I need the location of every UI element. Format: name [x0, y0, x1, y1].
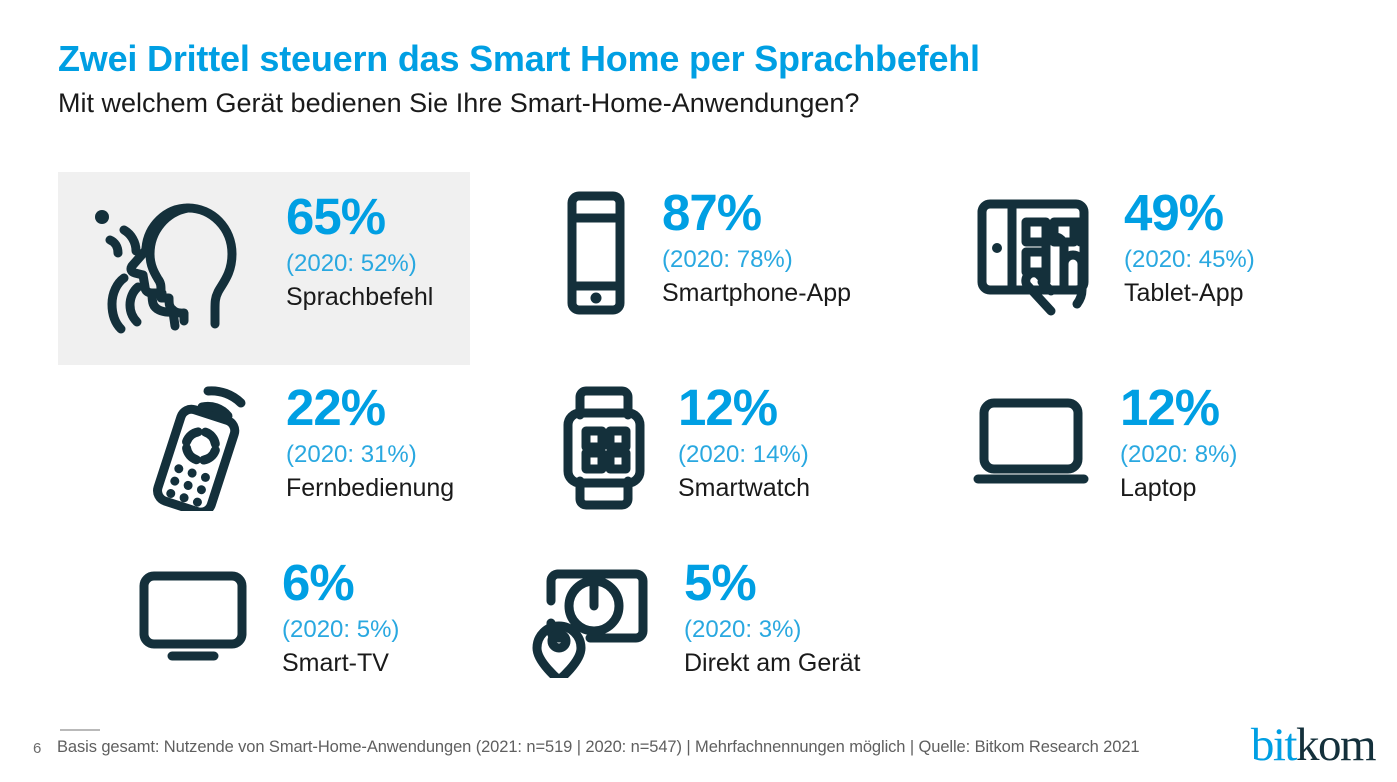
stat-cell-laptop: 12% (2020: 8%) Laptop — [968, 385, 1237, 505]
stat-text-laptop: 12% (2020: 8%) Laptop — [1120, 385, 1237, 505]
footer-source-note: Basis gesamt: Nutzende von Smart-Home-An… — [57, 738, 1140, 757]
stat-label: Tablet-App — [1124, 277, 1255, 310]
stat-text-direkt-am-geraet: 5% (2020: 3%) Direkt am Gerät — [684, 560, 860, 680]
stat-label: Smartphone-App — [662, 277, 851, 310]
logo-text-kom: kom — [1296, 719, 1375, 771]
stat-label: Laptop — [1120, 472, 1237, 505]
stat-text-smartphone-app: 87% (2020: 78%) Smartphone-App — [662, 190, 851, 310]
stat-cell-direkt-am-geraet: 5% (2020: 3%) Direkt am Gerät — [528, 560, 860, 680]
page-number: 6 — [33, 740, 41, 757]
tablet-touch-icon — [968, 190, 1098, 316]
remote-control-icon — [140, 385, 260, 511]
stat-text-tablet-app: 49% (2020: 45%) Tablet-App — [1124, 190, 1255, 310]
stat-percent: 49% — [1124, 190, 1255, 237]
stat-previous: (2020: 5%) — [282, 614, 399, 646]
power-device-icon — [528, 560, 658, 678]
stat-text-sprachbefehl: 65% (2020: 52%) Sprachbefehl — [286, 194, 433, 314]
page-title: Zwei Drittel steuern das Smart Home per … — [58, 38, 1348, 79]
stat-cell-tablet-app: 49% (2020: 45%) Tablet-App — [968, 190, 1255, 316]
stat-percent: 6% — [282, 560, 399, 607]
stat-label: Fernbedienung — [286, 472, 454, 505]
stat-label: Sprachbefehl — [286, 281, 433, 314]
stat-label: Smart-TV — [282, 647, 399, 680]
stat-percent: 87% — [662, 190, 851, 237]
laptop-icon — [968, 385, 1094, 495]
stat-percent: 12% — [678, 385, 810, 432]
stat-text-smartwatch: 12% (2020: 14%) Smartwatch — [678, 385, 810, 505]
bitkom-logo: bitkom — [1251, 722, 1375, 769]
stat-previous: (2020: 52%) — [286, 248, 433, 280]
stat-cell-sprachbefehl: 65% (2020: 52%) Sprachbefehl — [58, 172, 470, 365]
smartphone-icon — [556, 190, 636, 316]
stat-previous: (2020: 14%) — [678, 439, 810, 471]
stat-previous: (2020: 3%) — [684, 614, 860, 646]
stat-previous: (2020: 78%) — [662, 244, 851, 276]
stat-cell-smartphone-app: 87% (2020: 78%) Smartphone-App — [556, 190, 851, 316]
stat-percent: 65% — [286, 194, 433, 241]
stat-previous: (2020: 8%) — [1120, 439, 1237, 471]
stat-label: Direkt am Gerät — [684, 647, 860, 680]
stats-grid: 65% (2020: 52%) Sprachbefehl 87% (2020: … — [0, 172, 1397, 702]
stat-cell-smart-tv: 6% (2020: 5%) Smart-TV — [130, 560, 399, 680]
stat-percent: 5% — [684, 560, 860, 607]
stat-percent: 12% — [1120, 385, 1237, 432]
stat-previous: (2020: 45%) — [1124, 244, 1255, 276]
speaking-head-icon — [80, 194, 260, 334]
stat-cell-smartwatch: 12% (2020: 14%) Smartwatch — [556, 385, 810, 511]
page-subtitle: Mit welchem Gerät bedienen Sie Ihre Smar… — [58, 87, 1348, 119]
stat-previous: (2020: 31%) — [286, 439, 454, 471]
stat-text-smart-tv: 6% (2020: 5%) Smart-TV — [282, 560, 399, 680]
stat-label: Smartwatch — [678, 472, 810, 505]
header: Zwei Drittel steuern das Smart Home per … — [58, 38, 1348, 120]
television-icon — [130, 560, 256, 670]
stat-text-fernbedienung: 22% (2020: 31%) Fernbedienung — [286, 385, 454, 505]
stat-cell-fernbedienung: 22% (2020: 31%) Fernbedienung — [140, 385, 454, 511]
footer-divider — [60, 729, 100, 731]
stat-percent: 22% — [286, 385, 454, 432]
logo-text-bit: bit — [1251, 719, 1296, 771]
smartwatch-icon — [556, 385, 652, 511]
